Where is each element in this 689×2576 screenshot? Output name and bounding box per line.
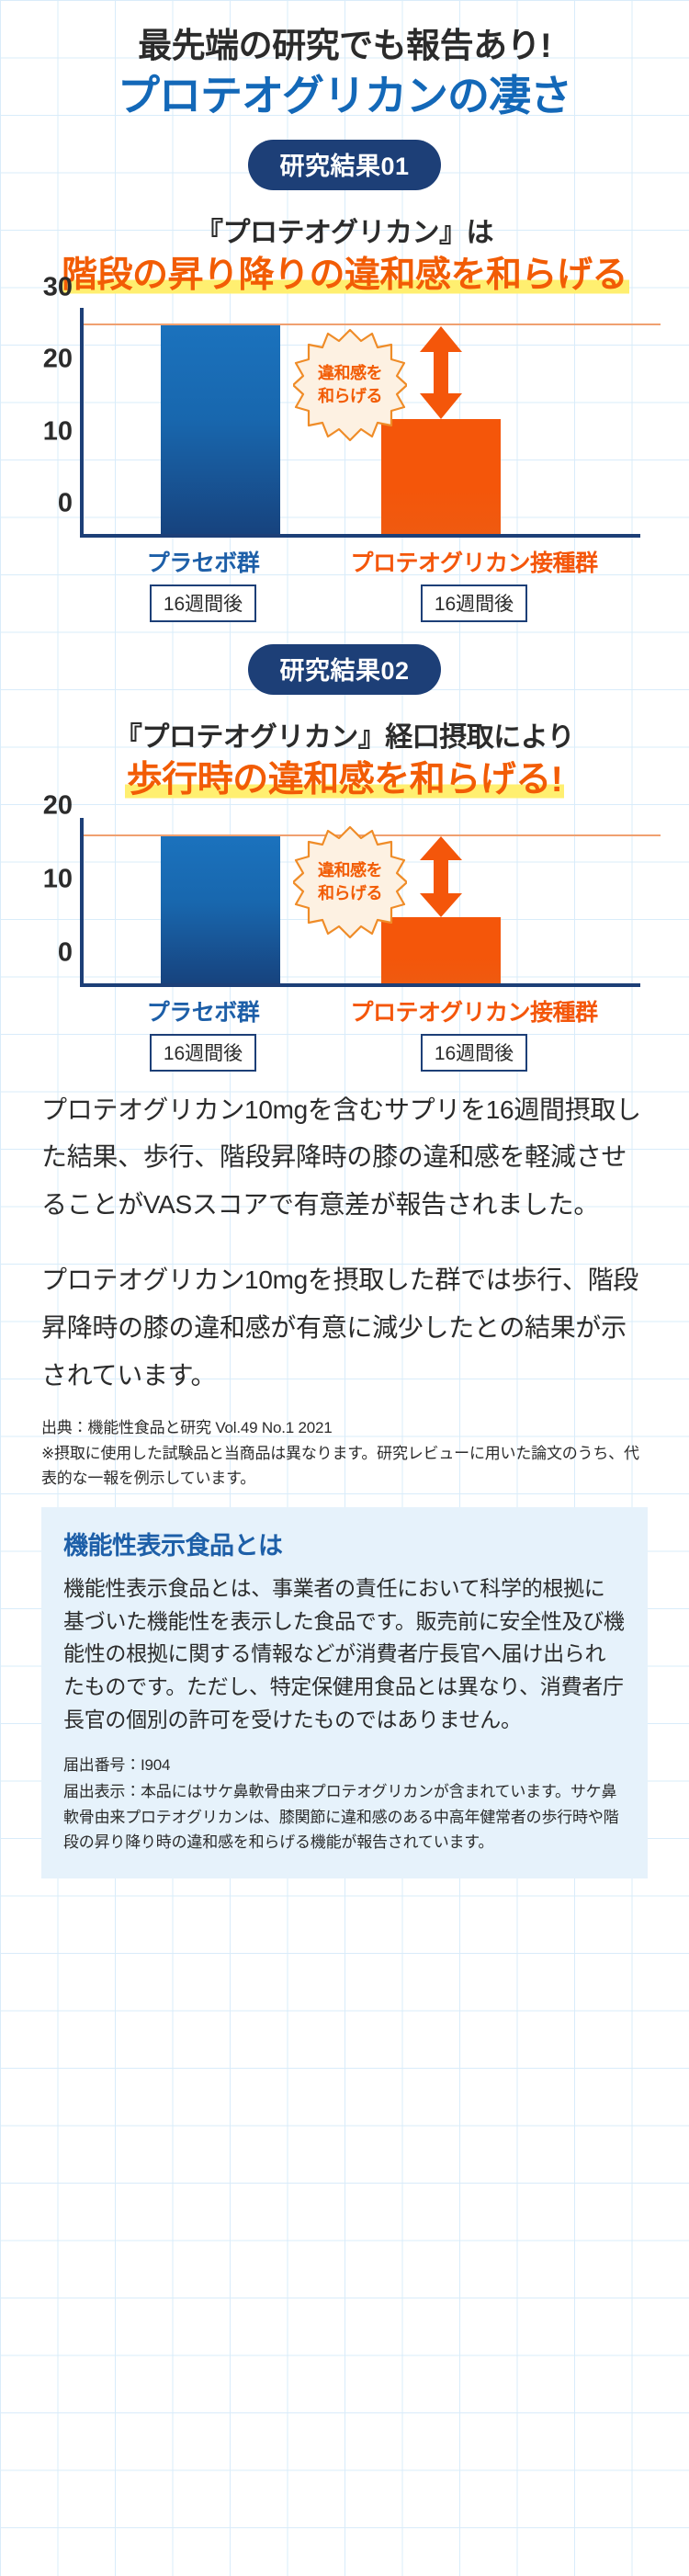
- infobox-title: 機能性表示食品とは: [63, 1526, 626, 1561]
- chart1-callout-starburst: 違和感を 和らげる: [293, 328, 407, 442]
- page-title: プロテオグリカンの凄さ: [0, 70, 689, 123]
- chart1-legend-placebo-chip: 16週間後: [150, 584, 256, 622]
- chart1-callout-line1: 違和感を: [318, 362, 382, 384]
- body-paragraph-2: プロテオグリカン10mgを摂取した群では歩行、階段昇降時の膝の違和感が有意に減少…: [41, 1256, 648, 1399]
- study1-badge: 研究結果01: [248, 140, 440, 190]
- chart2-plot-area: 20 10 0 違和感を 和らげる: [80, 818, 640, 987]
- chart-study1: 30 20 10 0 違和感を 和らげる: [23, 308, 666, 538]
- chart2-legend-placebo: プラセボ群 16週間後: [102, 994, 304, 1072]
- chart2-callout-starburst: 違和感を 和らげる: [293, 825, 407, 939]
- chart1-callout-line2: 和らげる: [318, 385, 382, 407]
- chart1-ytick-10: 10: [43, 416, 73, 447]
- chart1-legend-pg-name: プロテオグリカン接種群: [322, 545, 626, 578]
- source-disclaimer: ※摂取に使用した試験品と当商品は異なります。研究レビューに用いた論文のうち、代表…: [41, 1441, 648, 1491]
- study1-badge-wrap: 研究結果01: [0, 140, 689, 190]
- chart2-legend-placebo-name: プラセボ群: [102, 994, 304, 1027]
- infographic-page: 最先端の研究でも報告あり! プロテオグリカンの凄さ 研究結果01 『プロテオグリ…: [0, 0, 689, 1878]
- chart2-ytick-0: 0: [58, 937, 73, 968]
- infobox-registration-number: 届出番号：I904: [63, 1753, 626, 1777]
- chart2-ytick-10: 10: [43, 864, 73, 894]
- study2-badge-wrap: 研究結果02: [0, 644, 689, 695]
- body-text: プロテオグリカン10mgを含むサプリを16週間摂取した結果、歩行、階段昇降時の膝…: [41, 1086, 648, 1400]
- chart1-callout-text: 違和感を 和らげる: [293, 328, 407, 442]
- chart2-legend: プラセボ群 16週間後 プロテオグリカン接種群 16週間後: [23, 994, 666, 1066]
- study2-subtitle-highlight: 歩行時の違和感を和らげる!: [125, 760, 565, 800]
- chart1-legend-placebo: プラセボ群 16週間後: [102, 545, 304, 622]
- study2-badge: 研究結果02: [248, 644, 440, 695]
- source-citation: 出典：機能性食品と研究 Vol.49 No.1 2021: [41, 1415, 648, 1440]
- chart1-legend-pg: プロテオグリカン接種群 16週間後: [322, 545, 626, 622]
- chart1-ytick-0: 0: [58, 488, 73, 518]
- chart2-bar-placebo: [161, 836, 280, 983]
- body-paragraph-1: プロテオグリカン10mgを含むサプリを16週間摂取した結果、歩行、階段昇降時の膝…: [41, 1086, 648, 1229]
- chart2-callout-text: 違和感を 和らげる: [293, 825, 407, 939]
- chart2-callout-line2: 和らげる: [318, 882, 382, 904]
- chart1-bar-placebo: [161, 325, 280, 534]
- infobox-registration-display: 届出表示：本品にはサケ鼻軟骨由来プロテオグリカンが含まれています。サケ鼻軟骨由来…: [63, 1779, 626, 1855]
- chart2-callout-line1: 違和感を: [318, 859, 382, 881]
- source-notes: 出典：機能性食品と研究 Vol.49 No.1 2021 ※摂取に使用した試験品…: [41, 1415, 648, 1491]
- chart1-difference-arrow: [420, 326, 462, 419]
- study2-subtitle-dark: 『プロテオグリカン』経口摂取により: [0, 714, 689, 755]
- study1-subtitle-highlight-wrap: 階段の昇り降りの違和感を和らげる: [0, 257, 689, 293]
- chart2-difference-arrow: [420, 836, 462, 917]
- chart1-ytick-20: 20: [43, 345, 73, 375]
- study1-subtitle-highlight: 階段の昇り降りの違和感を和らげる: [60, 255, 629, 295]
- study2-subtitle-highlight-wrap: 歩行時の違和感を和らげる!: [0, 762, 689, 798]
- chart1-legend-pg-chip: 16週間後: [421, 584, 527, 622]
- chart-study2: 20 10 0 違和感を 和らげる: [23, 818, 666, 987]
- chart1-ytick-30: 30: [43, 273, 73, 303]
- infobox-registration: 届出番号：I904 届出表示：本品にはサケ鼻軟骨由来プロテオグリカンが含まれてい…: [63, 1753, 626, 1855]
- header-subtitle: 最先端の研究でも報告あり!: [0, 24, 689, 68]
- chart2-legend-pg-chip: 16週間後: [421, 1034, 527, 1072]
- chart2-ytick-20: 20: [43, 790, 73, 821]
- chart2-legend-pg: プロテオグリカン接種群 16週間後: [322, 994, 626, 1072]
- chart2-legend-pg-name: プロテオグリカン接種群: [322, 994, 626, 1027]
- study1-subtitle-dark: 『プロテオグリカン』は: [0, 210, 689, 250]
- chart1-plot-area: 30 20 10 0 違和感を 和らげる: [80, 308, 640, 538]
- infobox-body: 機能性表示食品とは、事業者の責任において科学的根拠に基づいた機能性を表示した食品…: [63, 1572, 626, 1736]
- chart1-legend: プラセボ群 16週間後 プロテオグリカン接種群 16週間後: [23, 545, 666, 617]
- page-header: 最先端の研究でも報告あり! プロテオグリカンの凄さ: [0, 0, 689, 123]
- chart1-legend-placebo-name: プラセボ群: [102, 545, 304, 578]
- chart2-legend-placebo-chip: 16週間後: [150, 1034, 256, 1072]
- functional-food-infobox: 機能性表示食品とは 機能性表示食品とは、事業者の責任において科学的根拠に基づいた…: [41, 1507, 648, 1878]
